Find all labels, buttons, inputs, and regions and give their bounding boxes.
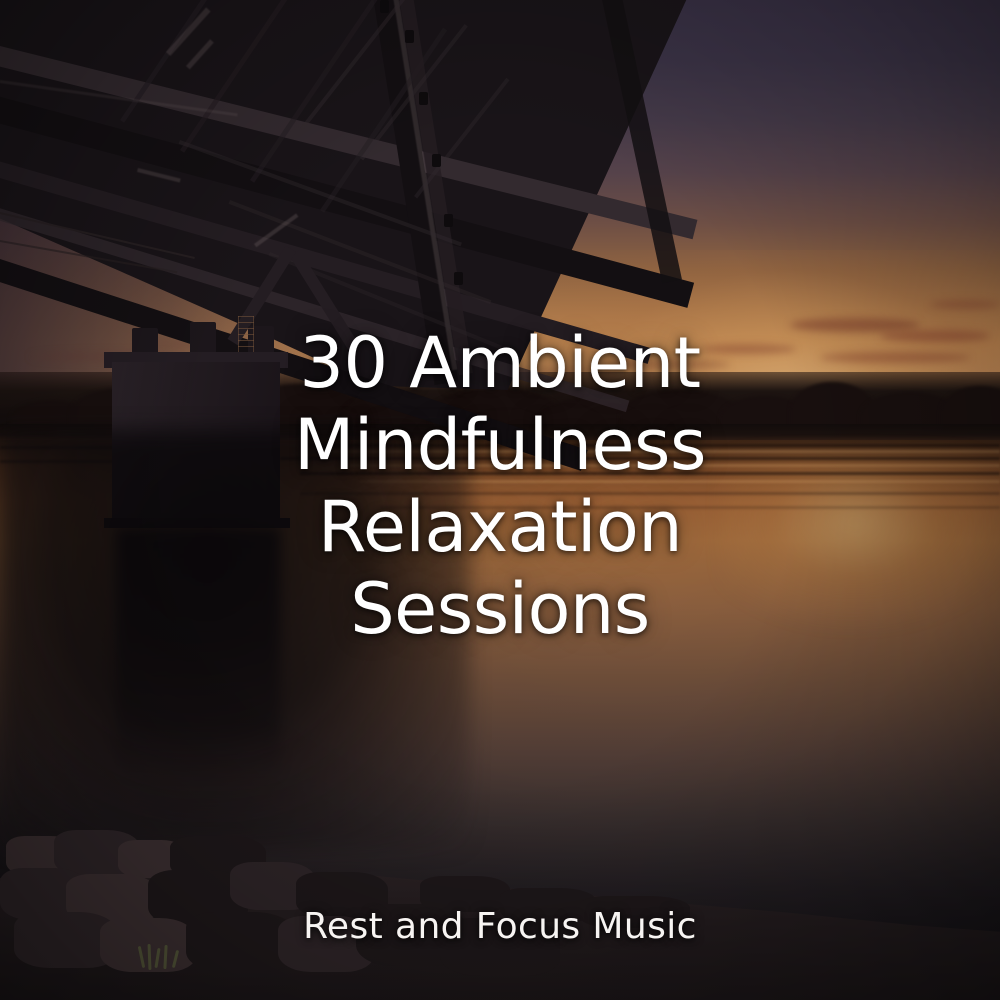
album-cover-artwork: 30 Ambient Mindfulness Relaxation Sessio… [0, 0, 1000, 1000]
album-title-line-3: Relaxation [0, 486, 1000, 568]
album-artist-subtitle: Rest and Focus Music [0, 906, 1000, 947]
album-title-line-2: Mindfulness [0, 404, 1000, 486]
album-title-line-4: Sessions [0, 568, 1000, 650]
album-title-line-1: 30 Ambient [0, 322, 1000, 404]
cover-text-overlay: 30 Ambient Mindfulness Relaxation Sessio… [0, 0, 1000, 1000]
album-title: 30 Ambient Mindfulness Relaxation Sessio… [0, 322, 1000, 650]
